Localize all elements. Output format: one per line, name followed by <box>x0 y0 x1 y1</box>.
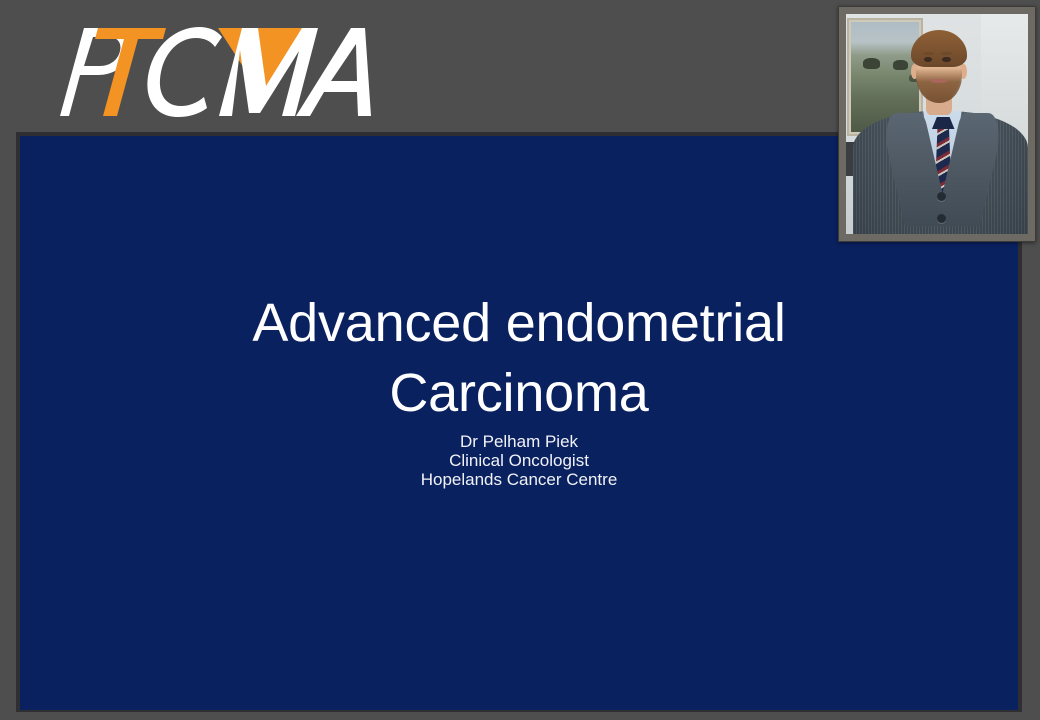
presenter-cardigan <box>853 111 1028 234</box>
presenter-eyebrow-right <box>941 52 952 55</box>
presenter-beard <box>916 68 962 103</box>
cardigan-button <box>937 214 946 223</box>
presenter-eye-left <box>924 57 932 62</box>
slide-title: Advanced endometrial Carcinoma <box>20 288 1018 428</box>
presenter-figure <box>846 14 1028 234</box>
cardigan-button <box>937 192 946 201</box>
ptcma-logo-svg <box>26 24 371 120</box>
slide-subtitle: Dr Pelham Piek Clinical Oncologist Hopel… <box>20 432 1018 489</box>
presenter-eyebrow-left <box>923 52 934 55</box>
presenter-eye-right <box>942 57 950 62</box>
presenter-webcam-frame[interactable] <box>838 6 1036 242</box>
presentation-screen: Advanced endometrial Carcinoma Dr Pelham… <box>0 0 1040 720</box>
ptcma-logo <box>26 24 371 120</box>
logo-letter-c <box>147 27 222 117</box>
presenter-webcam-video[interactable] <box>846 14 1028 234</box>
presenter-hair <box>911 30 967 67</box>
presenter-mouth <box>931 79 947 83</box>
